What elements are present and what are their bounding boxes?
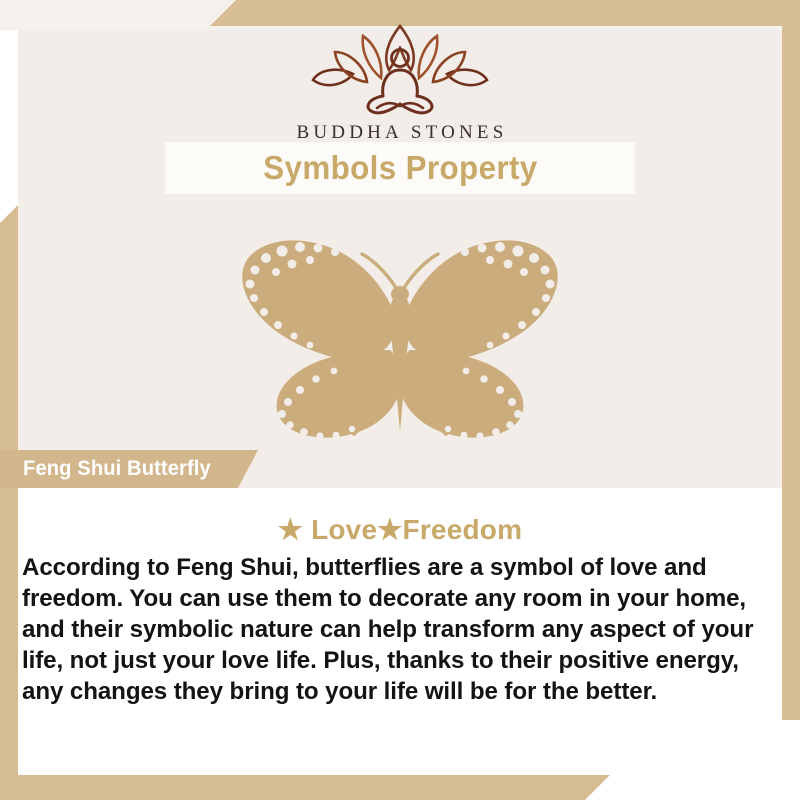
lotus-meditation-icon [0,22,800,118]
brand-wordmark: BUDDHA STONES [0,122,800,144]
gold-frame-bottom [0,775,610,800]
ribbon-label: Feng Shui Butterfly [0,457,211,481]
section-subheading: ★ Love★Freedom [0,513,800,546]
brand-logo: BUDDHA STONES [0,22,800,144]
feng-shui-ribbon: Feng Shui Butterfly [0,450,258,488]
butterfly-illustration [0,232,800,457]
title-banner: Symbols Property [165,142,635,194]
monarch-butterfly-icon [230,439,570,456]
poster-canvas: BUDDHA STONES Symbols Property [0,0,800,800]
body-paragraph: According to Feng Shui, butterflies are … [22,552,771,707]
page-title: Symbols Property [263,149,537,187]
